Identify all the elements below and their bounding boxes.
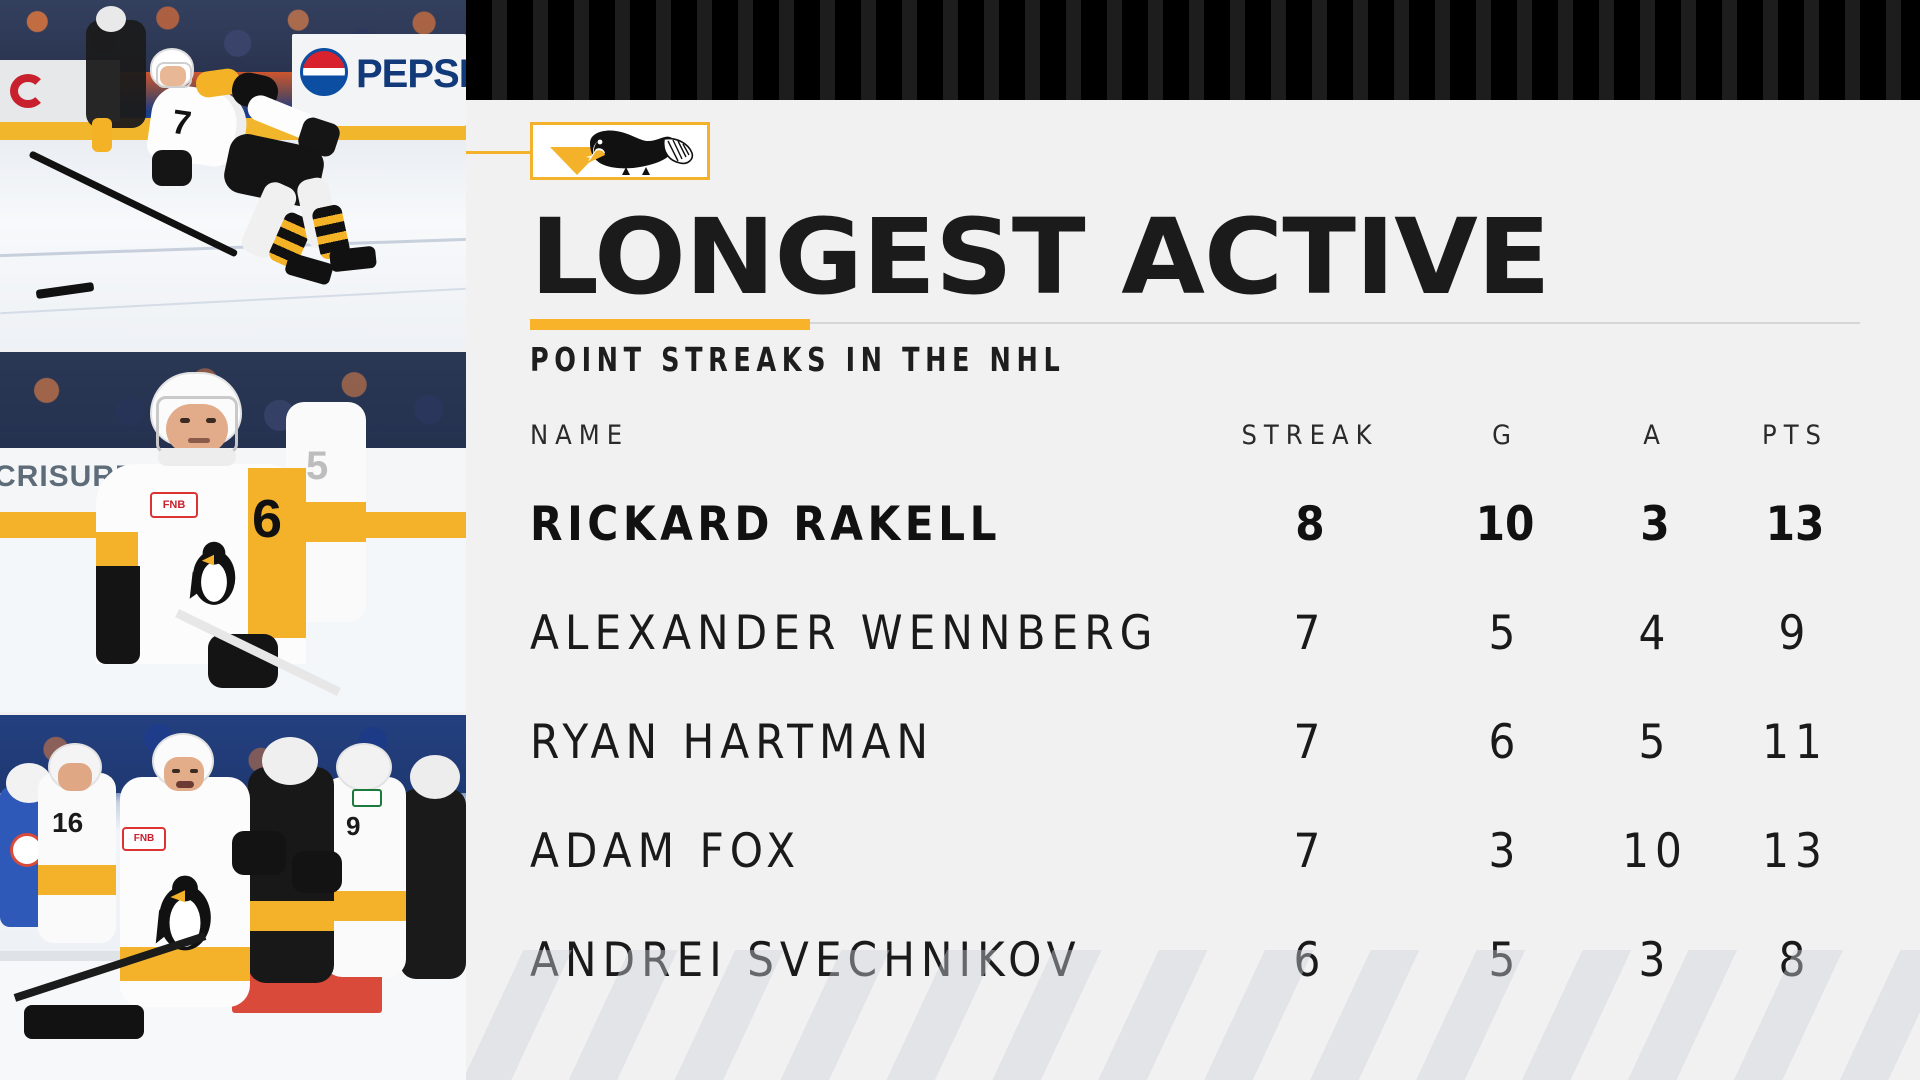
table-header-row: NAME STREAK G A PTS: [530, 400, 1860, 470]
graphic-canvas: PEPSI 7: [0, 0, 1920, 1080]
helmet-decal-icon: [352, 789, 382, 807]
helmet-chin-guard: [158, 448, 236, 466]
player-eye: [180, 418, 190, 423]
fnb-patch: FNB: [122, 827, 166, 851]
jersey-yellow-stripe: [38, 865, 116, 895]
teammate-helmet: [262, 737, 318, 785]
cell-assists: 4: [1580, 579, 1730, 688]
cell-player-name: RYAN HARTMAN: [530, 688, 1190, 797]
logo-connector-line: [466, 151, 533, 154]
column-header-streak: STREAK: [1190, 400, 1430, 470]
teammate-player: [38, 773, 116, 943]
background-jersey-number: 5: [306, 444, 328, 489]
teammate-helmet: [410, 755, 460, 799]
stats-table: NAME STREAK G A PTS RICKARD RAKELL 8 10 …: [530, 400, 1860, 1015]
page-subtitle: POINT STREAKS IN THE NHL: [530, 340, 1065, 379]
player-face: [160, 66, 186, 86]
pepsi-logo-icon: [300, 48, 348, 96]
jersey-number: 6: [252, 488, 282, 550]
teammate-face: [58, 763, 92, 791]
page-title: LONGEST ACTIVE: [530, 205, 1550, 309]
cell-points: 9: [1730, 579, 1860, 688]
column-header-a: A: [1580, 400, 1730, 470]
player-face: [166, 404, 228, 454]
cell-points: 11: [1730, 688, 1860, 797]
player-eye: [206, 418, 216, 423]
background-player-sock: [92, 118, 112, 152]
penguins-skating-icon: [536, 127, 708, 177]
cell-points: 8: [1730, 906, 1860, 1015]
player-glove: [292, 851, 342, 893]
player-eye: [172, 769, 180, 773]
background-player: [86, 20, 146, 128]
boards-ad-mark-icon: [10, 74, 46, 108]
jersey-yellow-panel: [96, 532, 138, 566]
fnb-patch: FNB: [150, 492, 198, 518]
cell-streak: 7: [1190, 579, 1430, 688]
cell-assists: 3: [1580, 470, 1730, 579]
pepsi-ad-text: PEPSI: [356, 52, 466, 97]
cell-player-name: ADAM FOX: [530, 797, 1190, 906]
player-glove: [232, 831, 286, 875]
title-accent-bar: [530, 319, 810, 330]
photo-player-portrait: CRISURE 5 6 FNB: [0, 349, 466, 712]
pittsburgh-penguins-logo: [530, 122, 710, 180]
photo-column: PEPSI 7: [0, 0, 466, 1080]
player-mouth: [188, 438, 210, 443]
cell-streak: 6: [1190, 906, 1430, 1015]
teammate-player: [400, 789, 466, 979]
teammate-helmet: [336, 743, 392, 791]
cell-assists: 5: [1580, 688, 1730, 797]
cell-player-name: ALEXANDER WENNBERG: [530, 579, 1190, 688]
table-row: ADAM FOX 7 3 10 13: [530, 797, 1860, 906]
cell-player-name: ANDREI SVECHNIKOV: [530, 906, 1190, 1015]
cell-assists: 3: [1580, 906, 1730, 1015]
cell-goals: 10: [1430, 470, 1580, 579]
cell-goals: 5: [1430, 579, 1580, 688]
table-row: ALEXANDER WENNBERG 7 5 4 9: [530, 579, 1860, 688]
column-header-pts: PTS: [1730, 400, 1860, 470]
jersey-yellow-stripe: [324, 891, 406, 921]
cell-goals: 5: [1430, 906, 1580, 1015]
column-header-g: G: [1430, 400, 1580, 470]
jersey-number: 16: [52, 807, 83, 839]
cell-player-name: RICKARD RAKELL: [530, 470, 1190, 579]
photo-player-skating: PEPSI 7: [0, 0, 466, 349]
column-header-name: NAME: [530, 400, 1190, 470]
table-row: ANDREI SVECHNIKOV 6 5 3 8: [530, 906, 1860, 1015]
photo-team-celebration: 9 16 FNB: [0, 712, 466, 1080]
top-striped-bar: [466, 0, 1920, 100]
jersey-black-panel: [96, 566, 140, 664]
player-skate: [24, 1005, 144, 1039]
cell-points: 13: [1730, 470, 1860, 579]
table-row: RYAN HARTMAN 7 6 5 11: [530, 688, 1860, 797]
cell-streak: 8: [1190, 470, 1430, 579]
cell-goals: 3: [1430, 797, 1580, 906]
player-mouth: [176, 781, 194, 788]
jersey-yellow-stripe: [248, 901, 334, 931]
stats-table-body: RICKARD RAKELL 8 10 3 13 ALEXANDER WENNB…: [530, 470, 1860, 1015]
cell-goals: 6: [1430, 688, 1580, 797]
player-glove: [152, 150, 192, 186]
jersey-number: 9: [346, 811, 360, 842]
background-player-helmet: [96, 6, 126, 32]
cell-assists: 10: [1580, 797, 1730, 906]
stats-panel: LONGEST ACTIVE POINT STREAKS IN THE NHL …: [466, 100, 1920, 1080]
cell-streak: 7: [1190, 688, 1430, 797]
table-row: RICKARD RAKELL 8 10 3 13: [530, 470, 1860, 579]
penguins-crest-icon: [176, 538, 252, 614]
cell-streak: 7: [1190, 797, 1430, 906]
stats-table-header: NAME STREAK G A PTS: [530, 400, 1860, 470]
player-eye: [190, 769, 198, 773]
cell-points: 13: [1730, 797, 1860, 906]
